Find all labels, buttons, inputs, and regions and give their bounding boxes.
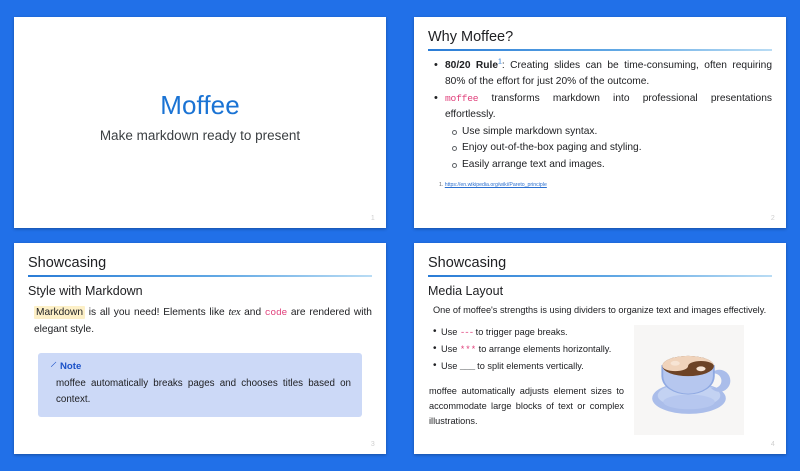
bullet-strong-label: 80/20 Rule (445, 60, 498, 71)
slide-1-title[interactable]: Moffee Make markdown ready to present 1 (14, 17, 386, 228)
list-item: Use simple markdown syntax. (462, 124, 772, 141)
list-item: Easily arrange text and images. (462, 157, 772, 174)
page-number: 2 (771, 215, 775, 222)
bullet-list-level1: 80/20 Rule1: Creating slides can be time… (428, 58, 772, 173)
slide-2-why-moffee[interactable]: Why Moffee? 80/20 Rule1: Creating slides… (414, 17, 786, 228)
media-image-column (634, 325, 744, 435)
note-callout: Note moffee automatically breaks pages a… (38, 353, 362, 418)
media-text-column: Use --- to trigger page breaks. Use *** … (428, 325, 624, 429)
tail-paragraph: moffee automatically adjusts element siz… (428, 384, 624, 429)
list-item: Enjoy out-of-the-box paging and styling. (462, 140, 772, 157)
item-post: to split elements vertically. (475, 361, 584, 371)
page-number: 4 (771, 441, 775, 448)
highlighted-text: Markdown (34, 306, 85, 319)
bullet-text: transforms markdown into professional pr… (445, 93, 772, 120)
coffee-cup-icon (643, 332, 735, 429)
body-paragraph: Markdown is all you need! Elements like … (28, 304, 372, 338)
inline-code: moffee (445, 93, 478, 104)
page-number: 1 (371, 215, 375, 222)
divider-token: --- (460, 328, 473, 338)
divider-token: *** (460, 345, 476, 355)
heading-rule (428, 275, 772, 277)
slide-subheading: Media Layout (428, 284, 772, 299)
heading-rule (428, 49, 772, 51)
footnote-link[interactable]: https://en.wikipedia.org/wiki/Pareto_pri… (445, 182, 547, 188)
pencil-icon (49, 361, 57, 372)
item-pre: Use (441, 327, 460, 337)
paragraph-text: is all you need! Elements like (85, 307, 228, 318)
divider-token: ___ (460, 362, 475, 372)
bullet-list-level2: Use simple markdown syntax. Enjoy out-of… (445, 124, 772, 174)
presentation-title: Moffee (160, 91, 240, 120)
list-item: moffee transforms markdown into professi… (443, 91, 772, 173)
slide-3-style-with-markdown[interactable]: Showcasing Style with Markdown Markdown … (14, 243, 386, 454)
item-pre: Use (441, 344, 460, 354)
list-item: Use *** to arrange elements horizontally… (441, 342, 624, 358)
divider-list: Use --- to trigger page breaks. Use *** … (428, 325, 624, 375)
slide-heading: Why Moffee? (428, 29, 772, 46)
item-post: to trigger page breaks. (473, 327, 567, 337)
note-label: Note (60, 361, 81, 372)
footnote: 1. https://en.wikipedia.org/wiki/Pareto_… (428, 182, 772, 188)
note-text: moffee automatically breaks pages and ch… (49, 376, 351, 408)
list-item: Use --- to trigger page breaks. (441, 325, 624, 341)
slide-deck-grid: Moffee Make markdown ready to present 1 … (0, 0, 800, 471)
tex-formula: tex (228, 306, 240, 318)
slide-heading: Showcasing (28, 255, 372, 272)
list-item: 80/20 Rule1: Creating slides can be time… (443, 58, 772, 90)
paragraph-text: and (240, 307, 265, 318)
intro-paragraph: One of moffee's strengths is using divid… (428, 304, 772, 318)
slide-heading: Showcasing (428, 255, 772, 272)
item-post: to arrange elements horizontally. (476, 344, 611, 354)
media-row: Use --- to trigger page breaks. Use *** … (428, 325, 772, 435)
list-item: Use ___ to split elements vertically. (441, 359, 624, 375)
page-number: 3 (371, 441, 375, 448)
note-header: Note (49, 361, 351, 372)
slide-4-media-layout[interactable]: Showcasing Media Layout One of moffee's … (414, 243, 786, 454)
footnote-marker: 1. (439, 182, 443, 188)
inline-code: code (265, 307, 287, 318)
heading-rule (28, 275, 372, 277)
item-pre: Use (441, 361, 460, 371)
slide-subheading: Style with Markdown (28, 284, 372, 299)
presentation-subtitle: Make markdown ready to present (100, 128, 300, 144)
